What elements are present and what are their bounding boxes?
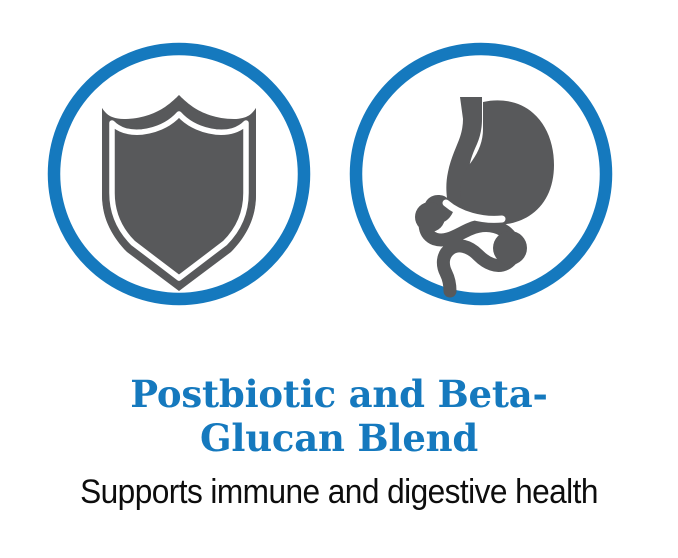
immune-icon-badge [48, 43, 310, 305]
feature-card: Postbiotic and Beta- Glucan Blend Suppor… [0, 0, 678, 558]
digestive-icon-badge [350, 43, 612, 305]
intestine-bulb-right [493, 231, 527, 265]
stomach-icon [350, 43, 612, 305]
page-title: Postbiotic and Beta- Glucan Blend [0, 372, 678, 460]
shield-icon [48, 43, 310, 305]
icon-row [0, 43, 678, 305]
intestine-bulb-left [415, 202, 445, 232]
shield-body [102, 98, 256, 291]
text-block: Postbiotic and Beta- Glucan Blend Suppor… [0, 372, 678, 512]
page-subtitle: Supports immune and digestive health [24, 472, 655, 512]
